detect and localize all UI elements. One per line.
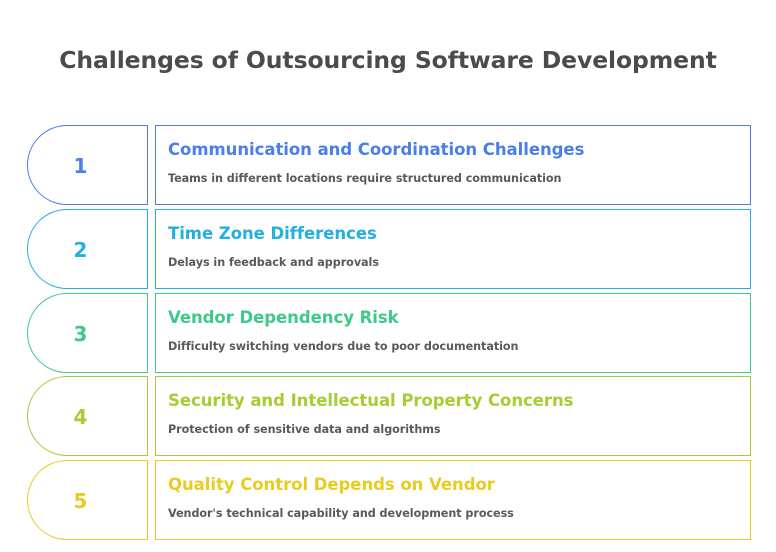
challenge-list: 1Communication and Coordination Challeng… <box>0 125 776 544</box>
challenge-subtext: Vendor's technical capability and develo… <box>168 507 514 520</box>
number-label: 3 <box>28 294 133 374</box>
number-badge: 2 <box>27 209 148 289</box>
challenge-card: Time Zone DifferencesDelays in feedback … <box>155 209 751 289</box>
challenge-subtext: Difficulty switching vendors due to poor… <box>168 340 518 353</box>
number-label: 1 <box>28 126 133 206</box>
challenge-subtext: Protection of sensitive data and algorit… <box>168 423 441 436</box>
challenge-row: 2Time Zone DifferencesDelays in feedback… <box>0 209 776 289</box>
challenge-row: 4Security and Intellectual Property Conc… <box>0 376 776 456</box>
challenge-row: 5Quality Control Depends on VendorVendor… <box>0 460 776 540</box>
challenge-row: 1Communication and Coordination Challeng… <box>0 125 776 205</box>
number-label: 4 <box>28 377 133 457</box>
challenge-heading: Time Zone Differences <box>168 224 377 243</box>
number-badge: 4 <box>27 376 148 456</box>
challenge-card: Communication and Coordination Challenge… <box>155 125 751 205</box>
page-title: Challenges of Outsourcing Software Devel… <box>0 46 776 74</box>
challenge-card: Quality Control Depends on VendorVendor'… <box>155 460 751 540</box>
number-label: 2 <box>28 210 133 290</box>
challenge-card: Security and Intellectual Property Conce… <box>155 376 751 456</box>
challenge-card: Vendor Dependency RiskDifficulty switchi… <box>155 293 751 373</box>
infographic-canvas: Challenges of Outsourcing Software Devel… <box>0 0 776 552</box>
challenge-heading: Quality Control Depends on Vendor <box>168 475 495 494</box>
number-badge: 5 <box>27 460 148 540</box>
number-badge: 3 <box>27 293 148 373</box>
challenge-heading: Security and Intellectual Property Conce… <box>168 391 573 410</box>
number-label: 5 <box>28 461 133 541</box>
challenge-subtext: Teams in different locations require str… <box>168 172 561 185</box>
number-badge: 1 <box>27 125 148 205</box>
challenge-heading: Vendor Dependency Risk <box>168 308 399 327</box>
challenge-subtext: Delays in feedback and approvals <box>168 256 379 269</box>
challenge-row: 3Vendor Dependency RiskDifficulty switch… <box>0 293 776 373</box>
challenge-heading: Communication and Coordination Challenge… <box>168 140 584 159</box>
